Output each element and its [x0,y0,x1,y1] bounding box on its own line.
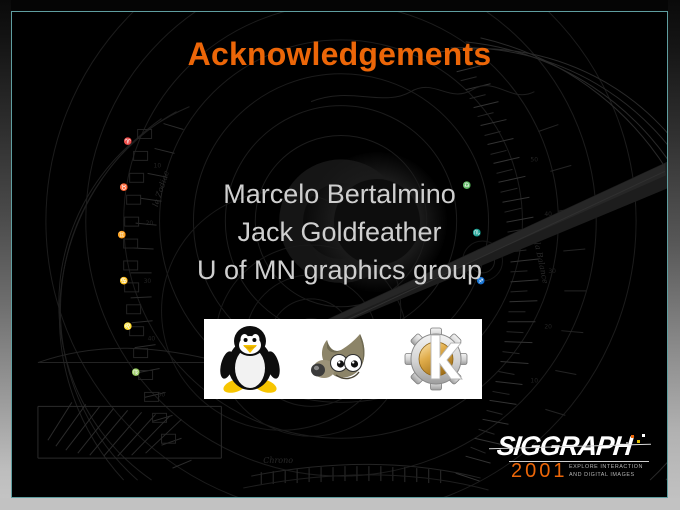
kde-gear-logo [399,322,473,396]
siggraph-spark-gray [626,442,628,444]
svg-text:50: 50 [158,391,166,398]
linux-tux-logo [213,322,287,396]
svg-text:20: 20 [544,324,552,331]
window-edge-left [0,0,11,510]
acknowledgement-line-2: Jack Goldfeather [12,213,667,251]
svg-text:♍: ♍ [132,368,141,377]
svg-text:♈: ♈ [124,136,133,145]
window-edge-top [0,0,680,11]
slide-body: Marcelo Bertalmino Jack Goldfeather U of… [12,175,667,289]
svg-text:50: 50 [530,156,538,163]
siggraph-spark-white [642,434,645,437]
siggraph-spark-yellow [637,440,640,443]
slide-title: Acknowledgements [12,36,667,73]
software-logo-panel [204,319,482,399]
siggraph-tagline-line-2: AND DIGITAL IMAGES [569,472,653,480]
svg-text:♌: ♌ [124,322,133,331]
svg-text:10: 10 [530,377,538,384]
desktop-backdrop: ♈ ♉ ♊ ♋ ♌ ♍ ♎ ♏ ♐ ♑ ♒ la Balance le Zodi… [0,0,680,510]
svg-text:40: 40 [148,336,156,343]
siggraph-spark-orange [631,435,634,438]
siggraph-tagline-line-1: EXPLORE INTERACTION [569,464,653,472]
siggraph-conference-logo: SIGGRAPH 2001 EXPLORE INTERACTION AND DI… [483,431,653,483]
acknowledgement-line-1: Marcelo Bertalmino [12,175,667,213]
siggraph-year: 2001 [511,460,568,483]
window-edge-bottom [0,498,680,510]
presentation-slide[interactable]: ♈ ♉ ♊ ♋ ♌ ♍ ♎ ♏ ♐ ♑ ♒ la Balance le Zodi… [11,11,668,498]
window-edge-right [668,0,680,510]
acknowledgement-line-3: U of MN graphics group [12,251,667,289]
svg-text:10: 10 [154,162,162,169]
svg-text:Chrono: Chrono [263,456,293,465]
gimp-wilber-logo [306,322,380,396]
siggraph-tagline: EXPLORE INTERACTION AND DIGITAL IMAGES [569,464,653,479]
